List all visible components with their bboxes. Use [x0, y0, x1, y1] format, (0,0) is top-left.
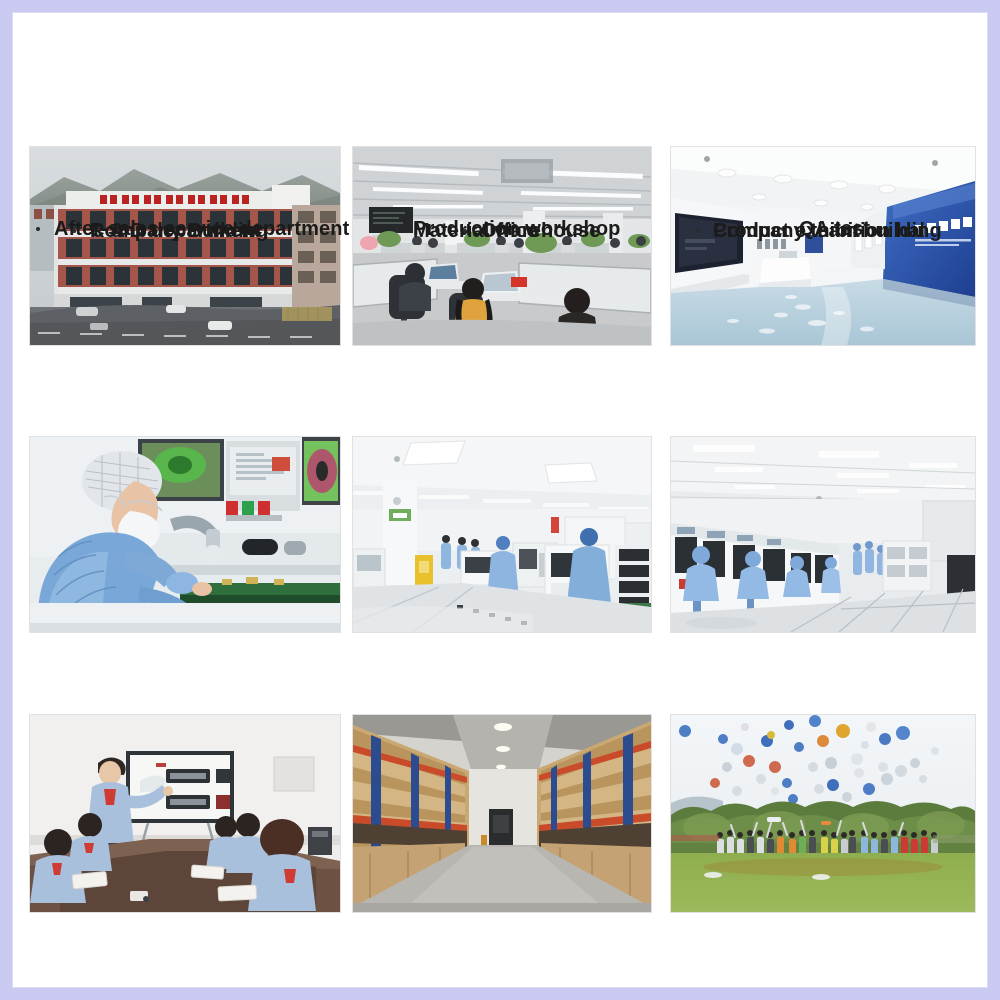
- caption-company-team-building: Company team building: [695, 221, 942, 241]
- caption-text: Company team building: [713, 221, 942, 241]
- bullet-dot-icon: [695, 229, 699, 233]
- company-team-building-photo[interactable]: [671, 715, 975, 912]
- caption-text: Material warehouse: [413, 221, 600, 241]
- bullet-dot-icon: [395, 229, 399, 233]
- company-building-photo[interactable]: [30, 147, 340, 345]
- production-workshop-photo[interactable]: [353, 437, 651, 632]
- material-warehouse-photo[interactable]: [353, 715, 651, 912]
- caption-rd-department: R & D department: [72, 221, 261, 241]
- caption-material-warehouse: Material warehouse: [395, 221, 600, 241]
- rd-department-photo[interactable]: [30, 715, 340, 912]
- photo-grid: Company Building: [13, 13, 987, 987]
- slide-frame: Company Building: [13, 13, 987, 987]
- after-sales-service-photo[interactable]: [30, 437, 340, 632]
- bullet-dot-icon: [72, 229, 76, 233]
- qa-test-photo[interactable]: [671, 437, 975, 632]
- office-photo[interactable]: [353, 147, 651, 345]
- caption-text: R & D department: [90, 221, 261, 241]
- product-exhibition-hall-photo[interactable]: [671, 147, 975, 345]
- bullet-dot-icon: [36, 227, 40, 231]
